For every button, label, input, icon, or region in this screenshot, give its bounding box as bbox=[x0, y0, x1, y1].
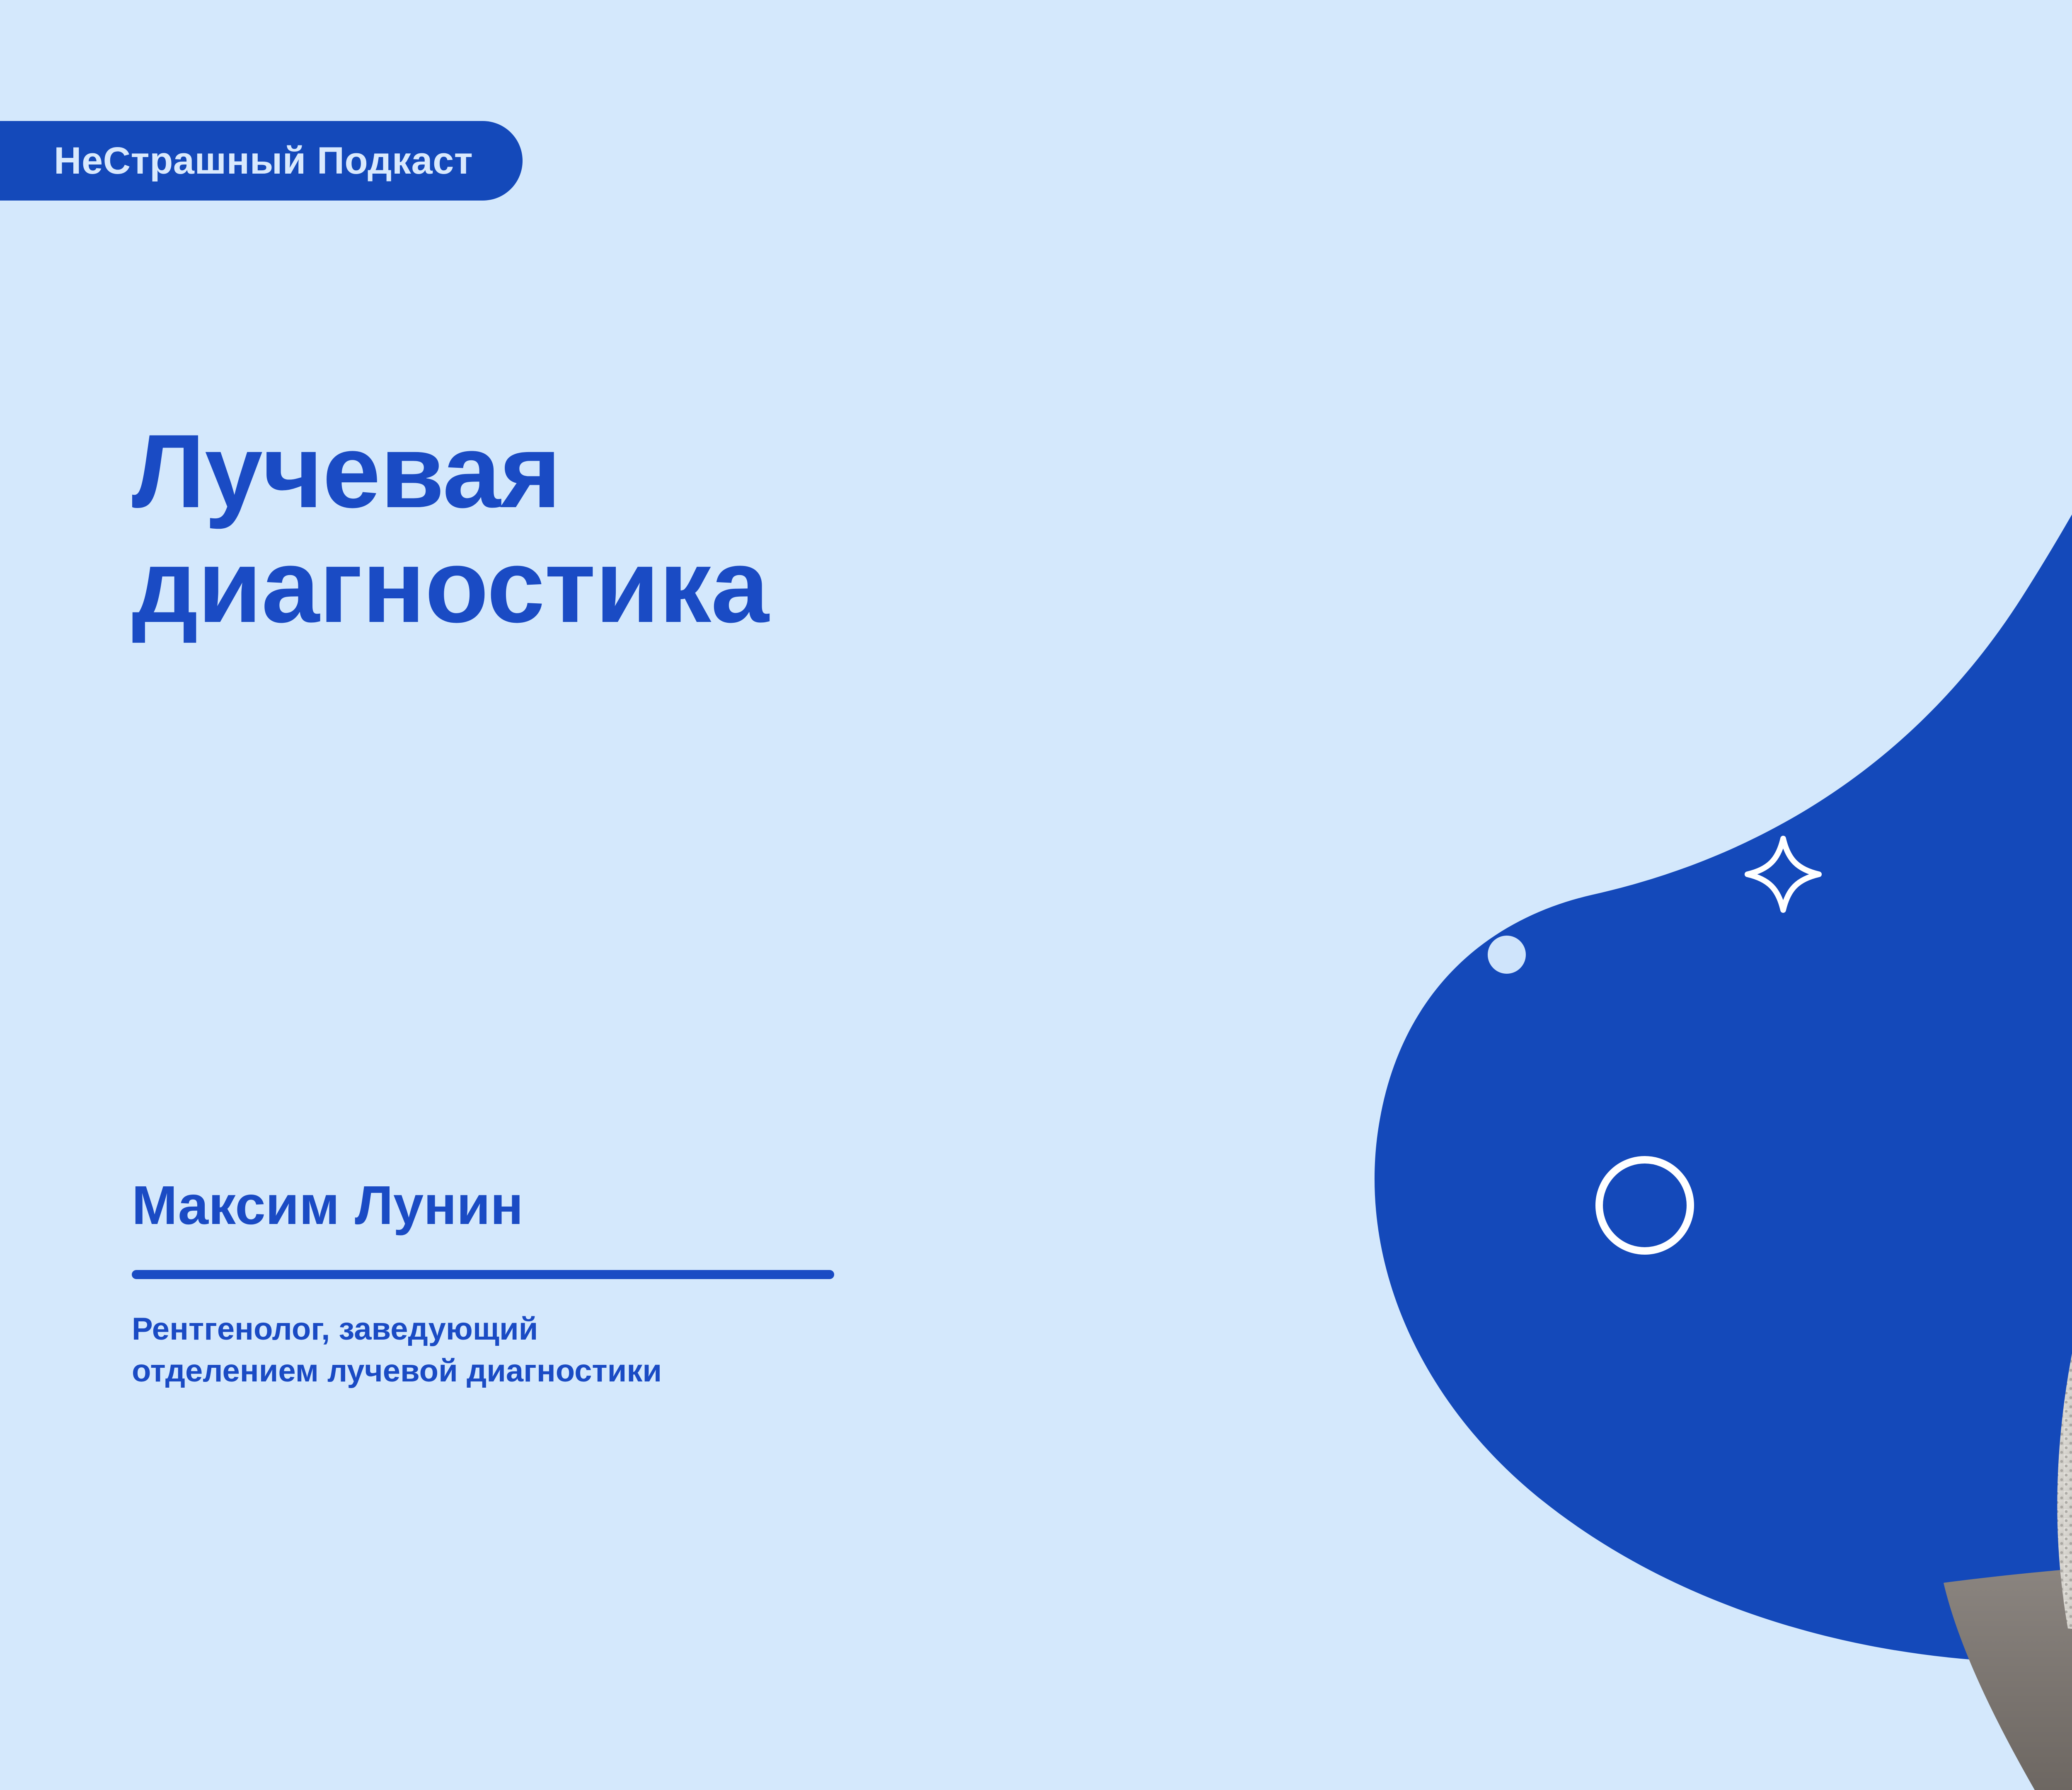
podcast-cover: НеСтрашный Подкаст Лучевая диагностика М… bbox=[0, 0, 2072, 1790]
podcast-badge-label: НеСтрашный Подкаст bbox=[54, 139, 473, 183]
speaker-name: Максим Лунин bbox=[132, 1177, 1292, 1234]
speaker-role-line-1: Рентгенолог, заведующий bbox=[132, 1308, 1292, 1350]
speaker-divider bbox=[132, 1270, 834, 1279]
page-title: Лучевая диагностика bbox=[132, 414, 1375, 643]
speaker-block: Максим Лунин Рентгенолог, заведующий отд… bbox=[132, 1177, 1292, 1392]
speaker-role-line-2: отделением лучевой диагностики bbox=[132, 1350, 1292, 1392]
filled-dot-small-icon bbox=[1488, 936, 1526, 974]
speaker-photo bbox=[1836, 315, 2072, 1790]
outline-ring-left-icon bbox=[1595, 1156, 1694, 1255]
podcast-badge: НеСтрашный Подкаст bbox=[0, 121, 523, 201]
title-line-2: диагностика bbox=[132, 529, 1375, 643]
speaker-role: Рентгенолог, заведующий отделением лучев… bbox=[132, 1308, 1292, 1392]
title-line-1: Лучевая bbox=[132, 414, 1375, 529]
outline-star-left-icon bbox=[1743, 834, 1824, 915]
